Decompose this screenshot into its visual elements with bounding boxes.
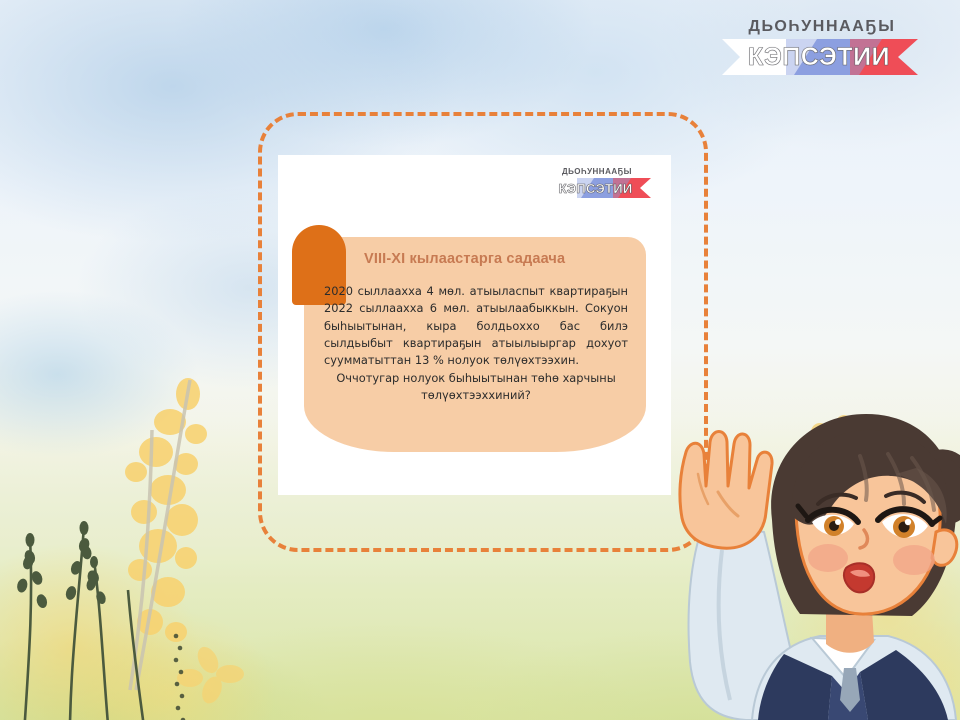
brand-ribbon: КЭПСЭТИИ: [722, 39, 932, 75]
slide-card: ДЬОҺУННААҔЫ КЭПСЭ: [278, 155, 671, 495]
brand-ribbon-text: КЭПСЭТИИ: [722, 39, 932, 75]
task-body: 2020 сыллаахха 4 мөл. атыыласпыт квартир…: [324, 283, 628, 404]
grass-spikes-icon: [0, 440, 240, 720]
task-content-block: VIII-XI кылаастарга садаача 2020 сыллаах…: [304, 237, 646, 452]
brand-logo-card: ДЬОҺУННААҔЫ КЭПСЭ: [541, 167, 659, 198]
task-title: VIII-XI кылаастарга садаача: [364, 251, 632, 267]
schoolgirl-illustration-icon: [660, 400, 960, 720]
brand-wordmark: ДЬОҺУННААҔЫ: [722, 18, 932, 36]
brand-ribbon-small: КЭПСЭТИИ: [541, 178, 659, 198]
brand-ribbon-text-small: КЭПСЭТИИ: [541, 178, 659, 198]
task-body-paragraph: 2020 сыллаахха 4 мөл. атыыласпыт квартир…: [324, 284, 628, 367]
schoolgirl-character: [660, 400, 960, 720]
task-body-question: Оччотугар нолуок быһыытынан төһө харчыны…: [324, 370, 628, 405]
slide-canvas: ДЬОҺУННААҔЫ КЭПСЭТИИ: [0, 0, 960, 720]
brand-logo-header: ДЬОҺУННААҔЫ КЭПСЭТИИ: [722, 18, 932, 75]
brand-wordmark-small: ДЬОҺУННААҔЫ: [541, 167, 659, 176]
